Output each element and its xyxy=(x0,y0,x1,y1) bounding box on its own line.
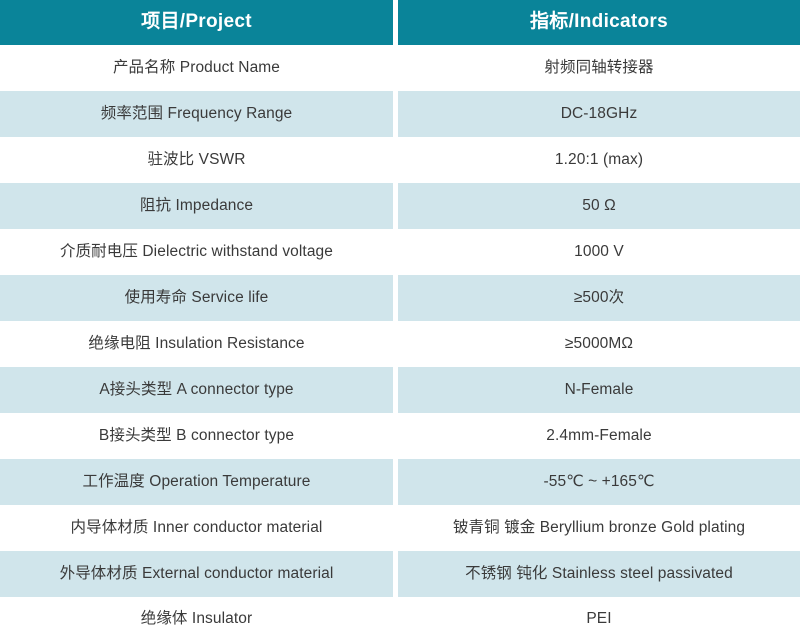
table-row: B接头类型 B connector type 2.4mm-Female xyxy=(0,413,800,459)
table-row: 产品名称 Product Name 射频同轴转接器 xyxy=(0,45,800,91)
cell-project: 工作温度 Operation Temperature xyxy=(0,459,393,505)
specification-table: 项目/Project 指标/Indicators 产品名称 Product Na… xyxy=(0,0,800,634)
cell-indicator: ≥5000MΩ xyxy=(398,321,800,367)
cell-indicator: DC-18GHz xyxy=(398,91,800,137)
cell-project: 频率范围 Frequency Range xyxy=(0,91,393,137)
cell-indicator: ≥500次 xyxy=(398,275,800,321)
cell-project: 绝缘电阻 Insulation Resistance xyxy=(0,321,393,367)
cell-project: A接头类型 A connector type xyxy=(0,367,393,413)
cell-indicator: PEI xyxy=(398,597,800,641)
cell-project: 驻波比 VSWR xyxy=(0,137,393,183)
table-row: 绝缘电阻 Insulation Resistance ≥5000MΩ xyxy=(0,321,800,367)
table-row: 使用寿命 Service life ≥500次 xyxy=(0,275,800,321)
table-row: A接头类型 A connector type N-Female xyxy=(0,367,800,413)
table-row: 频率范围 Frequency Range DC-18GHz xyxy=(0,91,800,137)
cell-project: 绝缘体 Insulator xyxy=(0,597,393,641)
cell-indicator: 不锈钢 钝化 Stainless steel passivated xyxy=(398,551,800,597)
cell-project: 产品名称 Product Name xyxy=(0,45,393,91)
cell-indicator: 1.20:1 (max) xyxy=(398,137,800,183)
table-row: 阻抗 Impedance 50 Ω xyxy=(0,183,800,229)
header-cell-project: 项目/Project xyxy=(0,0,393,45)
table-header-row: 项目/Project 指标/Indicators xyxy=(0,0,800,45)
cell-indicator: 1000 V xyxy=(398,229,800,275)
cell-indicator: -55℃ ~ +165℃ xyxy=(398,459,800,505)
table-row: 绝缘体 Insulator PEI xyxy=(0,597,800,641)
table-row: 外导体材质 External conductor material 不锈钢 钝化… xyxy=(0,551,800,597)
table-row: 工作温度 Operation Temperature -55℃ ~ +165℃ xyxy=(0,459,800,505)
cell-project: 内导体材质 Inner conductor material xyxy=(0,505,393,551)
cell-project: 外导体材质 External conductor material xyxy=(0,551,393,597)
cell-indicator: N-Female xyxy=(398,367,800,413)
cell-project: 阻抗 Impedance xyxy=(0,183,393,229)
cell-project: 介质耐电压 Dielectric withstand voltage xyxy=(0,229,393,275)
table-row: 驻波比 VSWR 1.20:1 (max) xyxy=(0,137,800,183)
table-row: 内导体材质 Inner conductor material 铍青铜 镀金 Be… xyxy=(0,505,800,551)
cell-indicator: 铍青铜 镀金 Beryllium bronze Gold plating xyxy=(398,505,800,551)
cell-indicator: 50 Ω xyxy=(398,183,800,229)
cell-indicator: 2.4mm-Female xyxy=(398,413,800,459)
cell-project: B接头类型 B connector type xyxy=(0,413,393,459)
header-cell-indicators: 指标/Indicators xyxy=(398,0,800,45)
table-row: 介质耐电压 Dielectric withstand voltage 1000 … xyxy=(0,229,800,275)
cell-project: 使用寿命 Service life xyxy=(0,275,393,321)
cell-indicator: 射频同轴转接器 xyxy=(398,45,800,91)
